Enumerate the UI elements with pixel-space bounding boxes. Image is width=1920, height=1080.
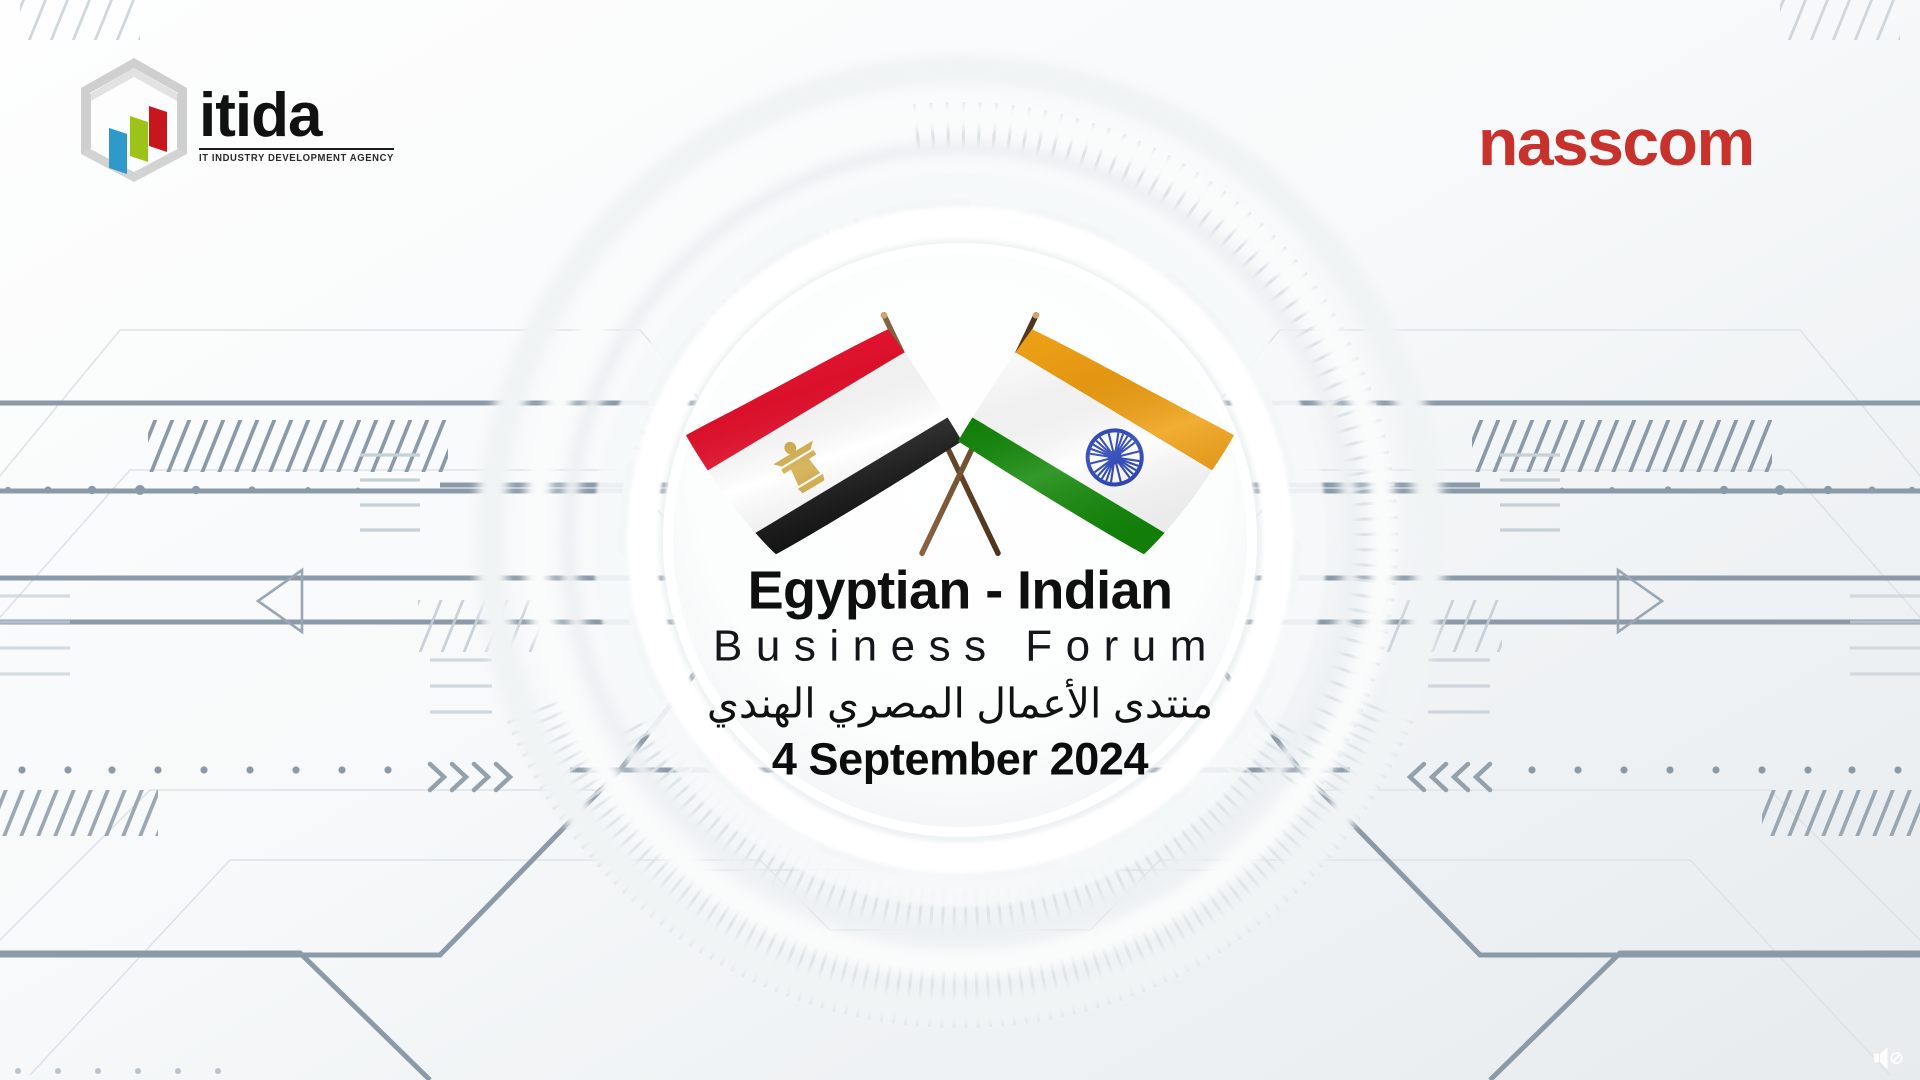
speaker-muted-icon[interactable] — [1872, 1044, 1906, 1072]
itida-wordmark-block: itida IT INDUSTRY DEVELOPMENT AGENCY — [199, 76, 394, 164]
event-date: 4 September 2024 — [590, 733, 1330, 785]
itida-logo: itida IT INDUSTRY DEVELOPMENT AGENCY — [75, 55, 345, 185]
title-arabic: منتدى الأعمال المصري الهندي — [590, 677, 1330, 731]
title-subtitle: Business Forum — [590, 618, 1330, 674]
title-english: Egyptian - Indian — [590, 563, 1330, 618]
itida-wordmark: itida — [199, 84, 349, 146]
emblem-content: Egyptian - Indian Business Forum منتدى ا… — [590, 295, 1330, 785]
itida-hexagon-icon — [75, 56, 193, 184]
svg-text:nasscom: nasscom — [1478, 112, 1754, 174]
crossed-flags — [590, 295, 1330, 565]
slide-canvas: Egyptian - Indian Business Forum منتدى ا… — [0, 0, 1920, 1080]
nasscom-logo: nasscom — [1478, 112, 1823, 174]
itida-rule — [199, 148, 394, 150]
itida-tagline: IT INDUSTRY DEVELOPMENT AGENCY — [199, 153, 394, 165]
svg-text:itida: itida — [199, 84, 323, 146]
